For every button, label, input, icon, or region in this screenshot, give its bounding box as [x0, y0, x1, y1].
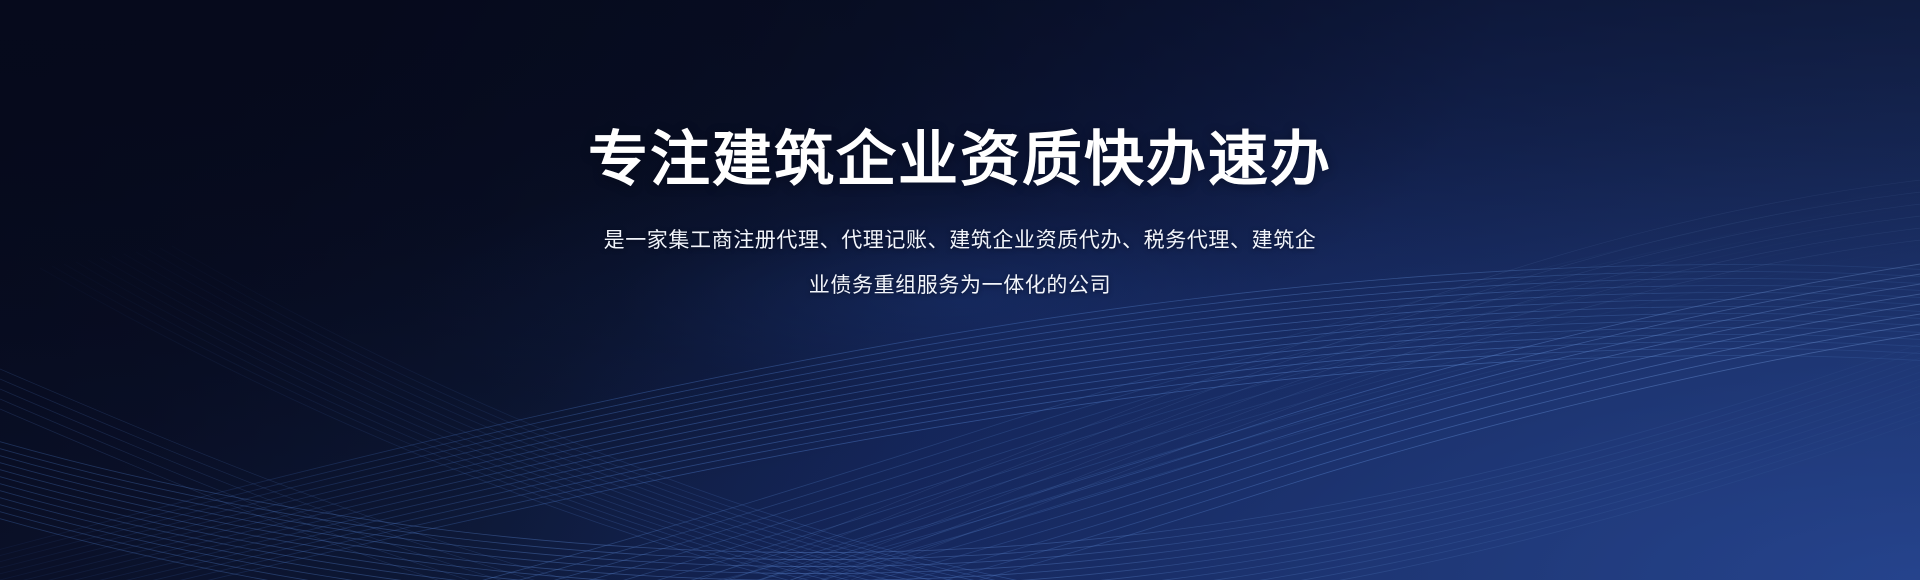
banner-subtitle: 是一家集工商注册代理、代理记账、建筑企业资质代办、税务代理、建筑企 业债务重组服…	[520, 218, 1400, 308]
banner-content: 专注建筑企业资质快办速办 是一家集工商注册代理、代理记账、建筑企业资质代办、税务…	[0, 0, 1920, 580]
hero-banner: 专注建筑企业资质快办速办 是一家集工商注册代理、代理记账、建筑企业资质代办、税务…	[0, 0, 1920, 580]
banner-subtitle-line-2: 业债务重组服务为一体化的公司	[520, 263, 1400, 308]
banner-subtitle-line-1: 是一家集工商注册代理、代理记账、建筑企业资质代办、税务代理、建筑企	[520, 218, 1400, 263]
banner-headline: 专注建筑企业资质快办速办	[588, 128, 1332, 192]
